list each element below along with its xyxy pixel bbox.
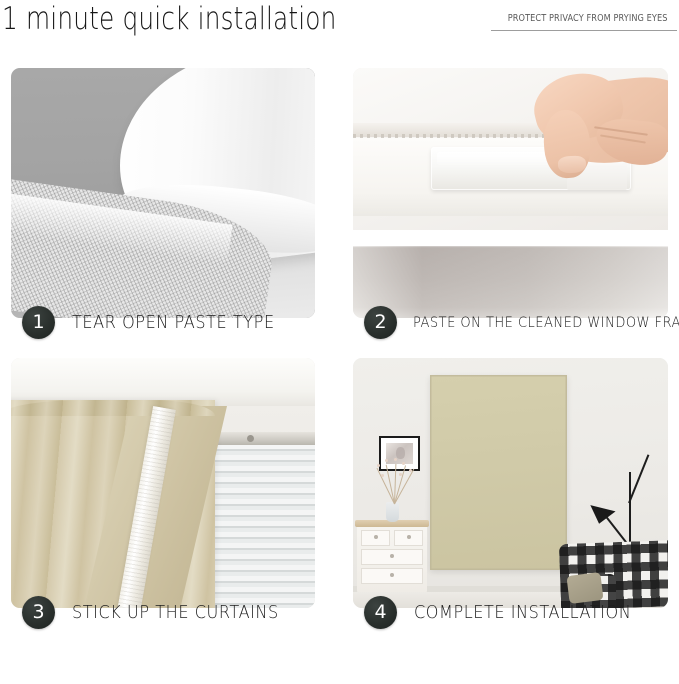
drawer-knob <box>390 573 394 577</box>
step-caption-1: 1 TEAR OPEN PASTE TYPE <box>11 301 315 343</box>
flower-stem <box>394 469 414 504</box>
step-caption-2: 2 PASTE ON THE CLEANED WINDOW FRAME <box>353 301 668 343</box>
step-label-2: PASTE ON THE CLEANED WINDOW FRAME <box>413 315 679 331</box>
dried-flowers <box>371 458 417 504</box>
step-label-1: TEAR OPEN PASTE TYPE <box>72 313 275 333</box>
drawer-knob <box>407 535 411 539</box>
step-label-3: STICK UP THE CURTAINS <box>72 603 279 623</box>
step-card-3: 3 STICK UP THE CURTAINS <box>11 358 315 633</box>
blind-rail-bracket <box>247 435 254 442</box>
step-card-2: 2 PASTE ON THE CLEANED WINDOW FRAME <box>353 68 668 343</box>
step-badge-1: 1 <box>22 306 55 339</box>
step-image-3 <box>11 358 315 608</box>
hand-illustration <box>484 70 668 190</box>
tagline-text: PROTECT PRIVACY FROM PRYING EYES <box>508 12 661 25</box>
flower-bud <box>402 462 405 465</box>
flower-bud <box>377 464 380 467</box>
step-label-4: COMPLETE INSTALLATION <box>414 603 631 623</box>
step-card-4: 4 COMPLETE INSTALLATION <box>353 358 668 633</box>
step-caption-4: 4 COMPLETE INSTALLATION <box>353 591 668 633</box>
steps-grid: 1 TEAR OPEN PASTE TYPE <box>0 62 679 684</box>
step-image-2 <box>353 68 668 318</box>
flower-bud <box>399 473 402 476</box>
step-card-1: 1 TEAR OPEN PASTE TYPE <box>11 68 315 343</box>
flower-bud <box>381 474 384 477</box>
tagline-block: PROTECT PRIVACY FROM PRYING EYES <box>491 12 677 31</box>
flower-bud <box>394 458 397 461</box>
step-image-1 <box>11 68 315 318</box>
flower-bud <box>385 459 388 462</box>
step-image-4 <box>353 358 668 608</box>
drawer-knob <box>390 554 394 558</box>
drawer-knob <box>374 535 378 539</box>
installed-curtain-border <box>430 375 567 570</box>
ceiling-surface <box>11 358 315 406</box>
step-badge-2: 2 <box>364 306 397 339</box>
glass-vase <box>386 502 399 522</box>
step-caption-3: 3 STICK UP THE CURTAINS <box>11 591 315 633</box>
page-title: 1 minute quick installation <box>2 0 337 39</box>
step-badge-3: 3 <box>22 596 55 629</box>
step-badge-4: 4 <box>364 596 397 629</box>
curtain-pleated-top <box>11 400 215 416</box>
flower-bud <box>409 469 412 472</box>
page-header: 1 minute quick installation PROTECT PRIV… <box>0 0 679 62</box>
tagline-divider <box>491 30 677 31</box>
window-blinds <box>207 444 315 608</box>
